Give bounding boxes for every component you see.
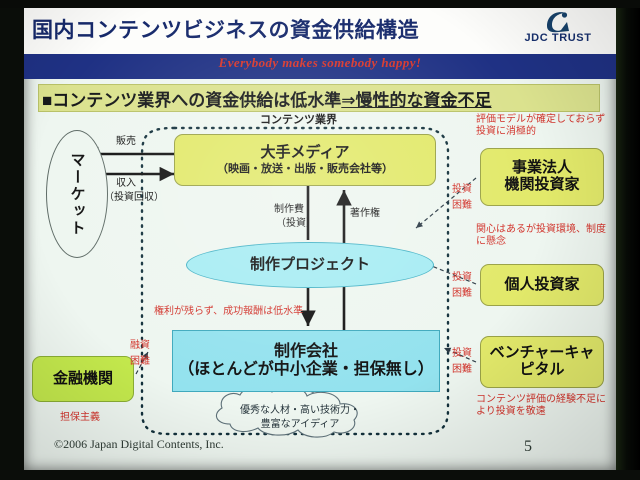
- jdc-trust-logo: JDC TRUST: [506, 9, 610, 53]
- node-production-company-title: 制作会社: [274, 343, 338, 361]
- node-financial-institution-label: 金融機関: [53, 371, 113, 388]
- label-collateral-principle: 担保主義: [60, 412, 100, 424]
- node-venture-capital-line2: ピタル: [519, 362, 564, 379]
- label-invest-hard-3a: 投資: [452, 348, 472, 360]
- note-individual-investors: 関心はあるが投資環境、制度に懸念: [476, 224, 606, 248]
- node-market[interactable]: マーケット: [46, 130, 108, 258]
- subtitle-plain: コンテンツ業界への資金供給は低水準: [52, 91, 341, 110]
- label-sales: 販売: [116, 136, 136, 148]
- page-title: 国内コンテンツビジネスの資金供給構造: [32, 14, 419, 44]
- note-corporate-investors: 評価モデルが確定しておらず投資に消極的: [476, 114, 608, 138]
- node-venture-capital[interactable]: ベンチャーキャ ピタル: [480, 336, 604, 388]
- node-corporate-investors[interactable]: 事業法人 機関投資家: [480, 148, 604, 206]
- node-production-project-label: 制作プロジェクト: [250, 257, 370, 274]
- funding-structure-diagram: コンテンツ業界 マーケット 大手メディア （映画・放送・出版・販売会社等） 制作…: [24, 112, 616, 442]
- industry-boundary-label: コンテンツ業界: [260, 114, 337, 127]
- node-production-company-sub: （ほとんどが中小企業・担保無し）: [178, 361, 434, 379]
- tagline-text: Everybody makes somebody happy!: [24, 55, 616, 71]
- photo-border-left: [0, 0, 24, 480]
- node-corporate-investors-line2: 機関投資家: [504, 177, 579, 194]
- page-number: 5: [524, 438, 532, 456]
- node-big-media-title: 大手メディア: [261, 145, 350, 162]
- cloud-line-2: 豊富なアイディア: [220, 418, 380, 432]
- node-production-company[interactable]: 制作会社 （ほとんどが中小企業・担保無し）: [172, 330, 440, 392]
- label-production-cost-2: （投資）: [276, 218, 316, 230]
- label-production-cost-1: 制作費: [274, 204, 304, 216]
- node-financial-institution[interactable]: 金融機関: [32, 356, 134, 402]
- label-loan-hard-a: 融資: [130, 340, 150, 352]
- label-income-2: （投資回収）: [104, 192, 164, 204]
- label-invest-hard-2b: 困難: [452, 288, 472, 300]
- subtitle-bullet: ■: [42, 91, 52, 110]
- node-venture-capital-line1: ベンチャーキャ: [490, 345, 595, 362]
- label-invest-hard-1a: 投資: [452, 184, 472, 196]
- label-income-1: 収入: [116, 178, 136, 190]
- label-loan-hard-b: 困難: [130, 356, 150, 368]
- photo-border-right: [616, 0, 640, 480]
- photo-border-bottom: [0, 470, 640, 480]
- node-big-media-sub: （映画・放送・出版・販売会社等）: [217, 163, 393, 176]
- projected-slide-photo: 国内コンテンツビジネスの資金供給構造 JDC TRUST Everybody m…: [0, 0, 640, 480]
- node-market-label: マーケット: [67, 152, 88, 237]
- slide-header: 国内コンテンツビジネスの資金供給構造 JDC TRUST: [24, 8, 616, 56]
- photo-border-top: [0, 0, 640, 8]
- subtitle-text: ■コンテンツ業界への資金供給は低水準⇒慢性的な資金不足: [42, 86, 602, 111]
- strengths-cloud-text: 優秀な人材・高い技術力・ 豊富なアイディア: [220, 404, 380, 431]
- label-invest-hard-3b: 困難: [452, 364, 472, 376]
- subtitle-underlined: ⇒慢性的な資金不足: [341, 91, 491, 110]
- copyright-text: ©2006 Japan Digital Contents, Inc.: [54, 437, 224, 452]
- cloud-line-1: 優秀な人材・高い技術力・: [220, 404, 380, 418]
- label-no-rights: 権利が残らず、成功報酬は低水準: [154, 306, 303, 318]
- node-production-project[interactable]: 制作プロジェクト: [186, 242, 434, 288]
- slide-canvas: 国内コンテンツビジネスの資金供給構造 JDC TRUST Everybody m…: [24, 8, 616, 470]
- label-invest-hard-2a: 投資: [452, 272, 472, 284]
- node-individual-investors[interactable]: 個人投資家: [480, 264, 604, 306]
- swoosh-icon: [545, 9, 571, 33]
- note-venture-capital: コンテンツ評価の経験不足により投資を敬遠: [476, 394, 610, 418]
- label-copyright: 著作権: [350, 208, 380, 220]
- node-big-media[interactable]: 大手メディア （映画・放送・出版・販売会社等）: [174, 134, 436, 186]
- label-invest-hard-1b: 困難: [452, 200, 472, 212]
- node-individual-investors-label: 個人投資家: [504, 277, 579, 294]
- node-corporate-investors-line1: 事業法人: [512, 160, 572, 177]
- logo-text: JDC TRUST: [506, 32, 610, 44]
